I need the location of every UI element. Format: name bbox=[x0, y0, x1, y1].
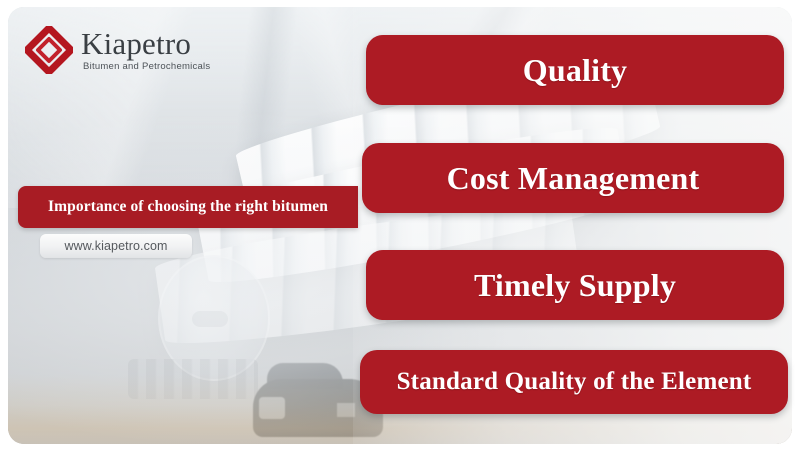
feature-button-label: Standard Quality of the Element bbox=[397, 368, 752, 396]
feature-button-timely-supply[interactable]: Timely Supply bbox=[366, 250, 784, 320]
brand-name: Kiapetro bbox=[81, 28, 210, 59]
brand-logo: Kiapetro Bitumen and Petrochemicals bbox=[25, 26, 210, 74]
website-url-text: www.kiapetro.com bbox=[64, 239, 167, 253]
feature-button-standard-quality[interactable]: Standard Quality of the Element bbox=[360, 350, 788, 414]
feature-button-label: Timely Supply bbox=[474, 267, 676, 304]
headline-text: Importance of choosing the right bitumen bbox=[48, 198, 328, 216]
headline-banner: Importance of choosing the right bitumen bbox=[18, 186, 358, 228]
feature-button-cost-management[interactable]: Cost Management bbox=[362, 143, 784, 213]
feature-button-label: Quality bbox=[523, 52, 628, 89]
website-url-pill[interactable]: www.kiapetro.com bbox=[40, 234, 192, 258]
infographic-canvas: Kiapetro Bitumen and Petrochemicals Impo… bbox=[0, 0, 800, 451]
feature-button-label: Cost Management bbox=[447, 160, 700, 197]
kiapetro-diamond-logo-icon bbox=[25, 26, 73, 74]
brand-logo-text: Kiapetro Bitumen and Petrochemicals bbox=[81, 28, 210, 72]
feature-button-quality[interactable]: Quality bbox=[366, 35, 784, 105]
brand-tagline: Bitumen and Petrochemicals bbox=[83, 62, 210, 72]
